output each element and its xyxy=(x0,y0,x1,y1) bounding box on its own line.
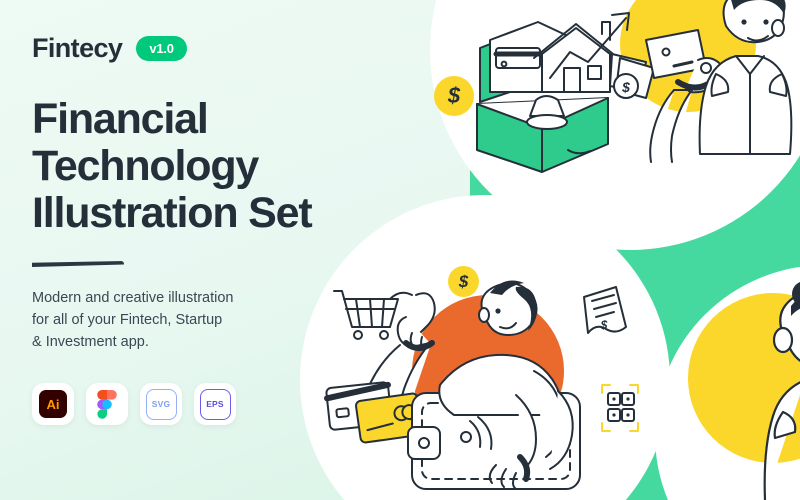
eps-label: EPS xyxy=(200,389,231,420)
ai-label: Ai xyxy=(39,390,67,418)
description-line-1: Modern and creative illustration xyxy=(32,287,282,309)
description: Modern and creative illustration for all… xyxy=(32,287,282,353)
adobe-illustrator-badge[interactable]: Ai xyxy=(32,383,74,425)
eps-badge[interactable]: EPS xyxy=(194,383,236,425)
description-line-2: for all of your Fintech, Startup xyxy=(32,309,282,331)
description-line-3: & Investment app. xyxy=(32,331,282,353)
svg-text:$: $ xyxy=(621,79,630,95)
brand-name: Fintecy xyxy=(32,33,122,64)
brand-row: Fintecy v1.0 xyxy=(32,28,402,68)
headline-line-1: Financial xyxy=(32,96,362,143)
page-title: Financial Technology Illustration Set xyxy=(32,96,362,237)
svg-text:$: $ xyxy=(600,318,608,332)
dollar-coin-top: $ xyxy=(434,76,474,116)
briefcase-investment-illustration: $ xyxy=(430,0,800,212)
poster-canvas: $ $ xyxy=(0,0,800,500)
svg-badge[interactable]: SVG xyxy=(140,383,182,425)
headline-line-3: Illustration Set xyxy=(32,190,362,237)
hero-text-column: Fintecy v1.0 Financial Technology Illust… xyxy=(32,28,402,425)
person-portrait-illustration xyxy=(655,270,800,500)
figma-icon xyxy=(97,390,117,419)
divider-stroke xyxy=(32,261,124,267)
version-badge: v1.0 xyxy=(136,36,187,61)
dollar-coin-center: $ xyxy=(448,266,479,297)
figma-badge[interactable] xyxy=(86,383,128,425)
headline-line-2: Technology xyxy=(32,143,362,190)
format-badge-list: Ai SVG EPS xyxy=(32,383,402,425)
svg-label: SVG xyxy=(146,389,177,420)
